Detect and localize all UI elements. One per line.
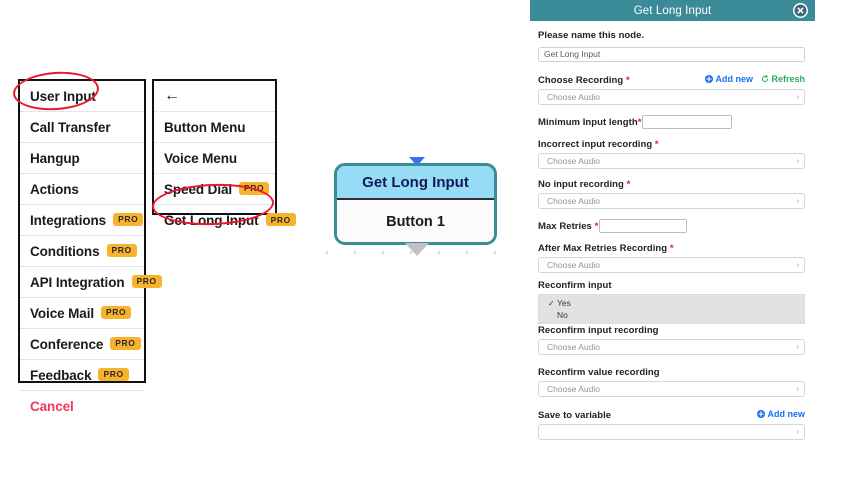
menu-item-label: Actions bbox=[30, 182, 79, 197]
menu-item-api-integration[interactable]: API Integration PRO bbox=[20, 267, 144, 298]
chevron-down-icon: › bbox=[796, 157, 799, 165]
menu-item-button-menu[interactable]: Button Menu bbox=[154, 112, 275, 143]
select-value: Choose Audio bbox=[547, 92, 600, 102]
max-retries-input[interactable] bbox=[599, 219, 687, 233]
chevron-down-icon: › bbox=[796, 428, 799, 436]
menu-item-label: Voice Mail bbox=[30, 306, 94, 321]
field-label-text: Max Retries bbox=[538, 221, 592, 232]
field-label-text: No input recording bbox=[538, 179, 624, 190]
node-title: Get Long Input bbox=[337, 166, 494, 200]
menu-item-label: Call Transfer bbox=[30, 120, 111, 135]
pro-badge: PRO bbox=[239, 182, 269, 195]
pro-badge: PRO bbox=[101, 306, 131, 319]
menu-item-speed-dial[interactable]: Speed Dial PRO bbox=[154, 174, 275, 205]
plus-circle-icon bbox=[757, 410, 765, 418]
field-choose-recording: Choose Recording * Add new bbox=[538, 74, 805, 105]
menu-item-label: Conditions bbox=[30, 244, 100, 259]
refresh-icon bbox=[761, 75, 769, 83]
add-new-label: Add new bbox=[715, 74, 753, 84]
check-icon: ✓ bbox=[548, 299, 554, 308]
field-save-to-variable: Save to variable Add new › bbox=[538, 409, 805, 440]
field-label-text: Minimum Input length bbox=[538, 117, 638, 128]
field-incorrect-input-recording: Incorrect input recording * Choose Audio… bbox=[538, 139, 805, 169]
menu-item-get-long-input[interactable]: Get Long Input PRO bbox=[154, 205, 275, 236]
required-marker: * bbox=[627, 179, 631, 190]
field-label: Reconfirm value recording bbox=[538, 367, 660, 378]
node-name-input[interactable] bbox=[538, 47, 805, 62]
chevron-down-icon: › bbox=[796, 261, 799, 269]
flow-node-get-long-input[interactable]: Get Long Input Button 1 bbox=[334, 163, 497, 245]
menu-item-voice-mail[interactable]: Voice Mail PRO bbox=[20, 298, 144, 329]
field-reconfirm-input: Reconfirm input ✓ Yes No bbox=[538, 280, 805, 324]
select-value: Choose Audio bbox=[547, 384, 600, 394]
menu-item-label: Integrations bbox=[30, 213, 106, 228]
menu-item-label: Conference bbox=[30, 337, 103, 352]
menu-item-label: Get Long Input bbox=[164, 213, 259, 228]
refresh-label: Refresh bbox=[771, 74, 805, 84]
reconfirm-input-option-no[interactable]: No bbox=[539, 309, 804, 321]
refresh-recordings-link[interactable]: Refresh bbox=[761, 74, 805, 84]
field-label: Reconfirm input bbox=[538, 280, 612, 291]
field-label: Minimum Input length* bbox=[538, 117, 641, 128]
field-no-input-recording: No input recording * Choose Audio › bbox=[538, 179, 805, 209]
select-value: Choose Audio bbox=[547, 196, 600, 206]
canvas-grid-marks bbox=[326, 251, 506, 254]
minimum-input-length-input[interactable] bbox=[642, 115, 732, 129]
menu-item-feedback[interactable]: Feedback PRO bbox=[20, 360, 144, 391]
field-label-text: After Max Retries Recording bbox=[538, 243, 667, 254]
secondary-action-menu: ← Button Menu Voice Menu Speed Dial PRO … bbox=[152, 79, 277, 215]
pro-badge: PRO bbox=[266, 213, 296, 226]
menu-item-conditions[interactable]: Conditions PRO bbox=[20, 236, 144, 267]
back-button[interactable]: ← bbox=[154, 81, 275, 112]
field-label-text: Choose Recording bbox=[538, 75, 623, 86]
field-label-text: Incorrect input recording bbox=[538, 139, 652, 150]
chevron-down-icon: › bbox=[796, 343, 799, 351]
required-marker: * bbox=[626, 75, 630, 86]
add-new-variable-link[interactable]: Add new bbox=[757, 409, 805, 419]
save-to-variable-select[interactable]: › bbox=[538, 424, 805, 440]
node-output-connector-icon bbox=[405, 243, 429, 256]
menu-item-integrations[interactable]: Integrations PRO bbox=[20, 205, 144, 236]
chevron-down-icon: › bbox=[796, 197, 799, 205]
menu-item-voice-menu[interactable]: Voice Menu bbox=[154, 143, 275, 174]
reconfirm-input-recording-select[interactable]: Choose Audio › bbox=[538, 339, 805, 355]
node-body-label[interactable]: Button 1 bbox=[337, 200, 494, 244]
reconfirm-input-listbox[interactable]: ✓ Yes No bbox=[538, 294, 805, 324]
field-label: Reconfirm input recording bbox=[538, 325, 659, 336]
select-value: Choose Audio bbox=[547, 260, 600, 270]
pro-badge: PRO bbox=[132, 275, 162, 288]
menu-item-label: Voice Menu bbox=[164, 151, 237, 166]
menu-item-call-transfer[interactable]: Call Transfer bbox=[20, 112, 144, 143]
primary-action-menu: User Input Call Transfer Hangup Actions … bbox=[18, 79, 146, 383]
add-new-recording-link[interactable]: Add new bbox=[705, 74, 753, 84]
menu-item-label: Feedback bbox=[30, 368, 91, 383]
dialog-title: Get Long Input bbox=[634, 5, 712, 17]
field-after-max-retries-recording: After Max Retries Recording * Choose Aud… bbox=[538, 243, 805, 273]
required-marker: * bbox=[638, 117, 642, 128]
no-input-recording-select[interactable]: Choose Audio › bbox=[538, 193, 805, 209]
menu-item-user-input[interactable]: User Input bbox=[20, 81, 144, 112]
required-marker: * bbox=[670, 243, 674, 254]
required-marker: * bbox=[595, 221, 599, 232]
menu-item-conference[interactable]: Conference PRO bbox=[20, 329, 144, 360]
required-marker: * bbox=[655, 139, 659, 150]
node-settings-dialog: Get Long Input Please name this node. Ch… bbox=[530, 0, 815, 484]
field-node-name: Please name this node. bbox=[538, 30, 805, 62]
menu-item-actions[interactable]: Actions bbox=[20, 174, 144, 205]
chevron-down-icon: › bbox=[796, 93, 799, 101]
dialog-body: Please name this node. Choose Recording … bbox=[530, 21, 815, 440]
menu-item-label: API Integration bbox=[30, 275, 125, 290]
incorrect-input-recording-select[interactable]: Choose Audio › bbox=[538, 153, 805, 169]
select-value: Choose Audio bbox=[547, 156, 600, 166]
field-label: Max Retries * bbox=[538, 221, 598, 232]
pro-badge: PRO bbox=[110, 337, 140, 350]
menu-item-cancel[interactable]: Cancel bbox=[20, 391, 144, 422]
field-label: After Max Retries Recording * bbox=[538, 243, 674, 254]
reconfirm-value-recording-select[interactable]: Choose Audio › bbox=[538, 381, 805, 397]
menu-item-label: User Input bbox=[30, 89, 96, 104]
field-label: No input recording * bbox=[538, 179, 630, 190]
pro-badge: PRO bbox=[98, 368, 128, 381]
menu-item-hangup[interactable]: Hangup bbox=[20, 143, 144, 174]
field-label: Incorrect input recording * bbox=[538, 139, 659, 150]
field-label: Choose Recording * bbox=[538, 75, 630, 86]
reconfirm-input-option-yes[interactable]: ✓ Yes bbox=[539, 297, 804, 309]
dialog-header: Get Long Input bbox=[530, 0, 815, 21]
pro-badge: PRO bbox=[113, 213, 143, 226]
menu-item-label: Button Menu bbox=[164, 120, 245, 135]
field-reconfirm-input-recording: Reconfirm input recording Choose Audio › bbox=[538, 325, 805, 355]
chevron-down-icon: › bbox=[796, 385, 799, 393]
field-minimum-input-length: Minimum Input length* bbox=[538, 115, 805, 129]
menu-item-label: Hangup bbox=[30, 151, 80, 166]
plus-circle-icon bbox=[705, 75, 713, 83]
field-label: Please name this node. bbox=[538, 30, 644, 41]
select-value: Choose Audio bbox=[547, 342, 600, 352]
pro-badge: PRO bbox=[107, 244, 137, 257]
after-max-retries-recording-select[interactable]: Choose Audio › bbox=[538, 257, 805, 273]
option-label: No bbox=[557, 310, 568, 320]
menu-item-label: Speed Dial bbox=[164, 182, 232, 197]
menu-item-label: Cancel bbox=[30, 399, 74, 414]
add-new-label: Add new bbox=[768, 409, 806, 419]
field-reconfirm-value-recording: Reconfirm value recording Choose Audio › bbox=[538, 367, 805, 397]
option-label: Yes bbox=[557, 298, 571, 308]
choose-recording-select[interactable]: Choose Audio › bbox=[538, 89, 805, 105]
field-max-retries: Max Retries * bbox=[538, 219, 805, 233]
arrow-left-icon: ← bbox=[164, 87, 180, 105]
close-circle-icon[interactable] bbox=[793, 3, 808, 18]
field-label: Save to variable bbox=[538, 410, 611, 421]
